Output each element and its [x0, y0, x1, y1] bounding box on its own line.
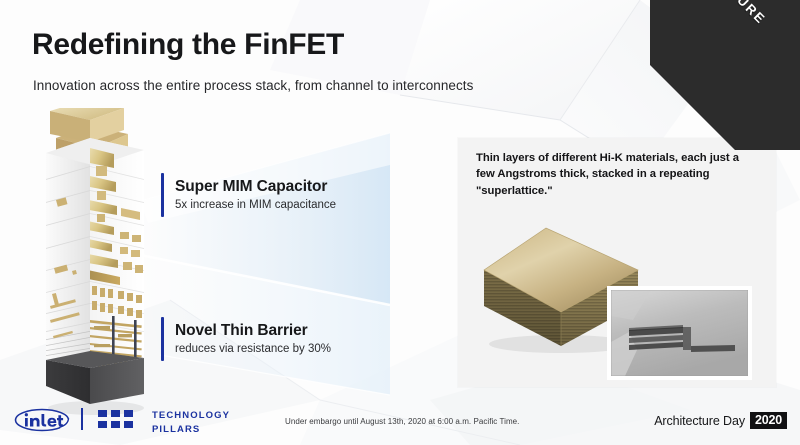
technology-pillars-label: TECHNOLOGY PILLARS: [152, 409, 230, 437]
panel-caption: Thin layers of different Hi-K materials,…: [476, 150, 758, 199]
pillars-line-2: PILLARS: [152, 423, 230, 437]
detail-panel: Thin layers of different Hi-K materials,…: [458, 138, 776, 387]
interconnect-stack-illustration: [28, 108, 164, 420]
embargo-notice: Under embargo until August 13th, 2020 at…: [285, 417, 519, 426]
callout-title: Super MIM Capacitor: [175, 177, 336, 196]
page-subtitle: Innovation across the entire process sta…: [33, 78, 473, 93]
footer: TECHNOLOGY PILLARS Under embargo until A…: [0, 399, 800, 445]
accent-bar: [161, 173, 164, 217]
callout-subtitle: 5x increase in MIM capacitance: [175, 198, 336, 214]
page-title: Redefining the FinFET: [32, 28, 344, 62]
callout-novel-thin-barrier: Novel Thin Barrier reduces via resistanc…: [161, 317, 331, 361]
event-label: Architecture Day: [654, 414, 745, 428]
callout-title: Novel Thin Barrier: [175, 321, 331, 340]
footer-divider: [81, 408, 83, 430]
slide-root: Super MIM Capacitor 5x increase in MIM c…: [0, 0, 800, 445]
new-disclosure-ribbon: NEW DISCLOSURE: [650, 0, 800, 150]
event-year: 2020: [750, 412, 787, 429]
accent-bar: [161, 317, 164, 361]
intel-logo: [14, 407, 70, 433]
tem-micrograph: [607, 286, 752, 380]
technology-pillars-icon: [98, 410, 142, 429]
architecture-day-badge: Architecture Day 2020: [654, 412, 787, 429]
callout-super-mim-capacitor: Super MIM Capacitor 5x increase in MIM c…: [161, 173, 336, 217]
pillars-line-1: TECHNOLOGY: [152, 409, 230, 423]
callout-subtitle: reduces via resistance by 30%: [175, 342, 331, 358]
